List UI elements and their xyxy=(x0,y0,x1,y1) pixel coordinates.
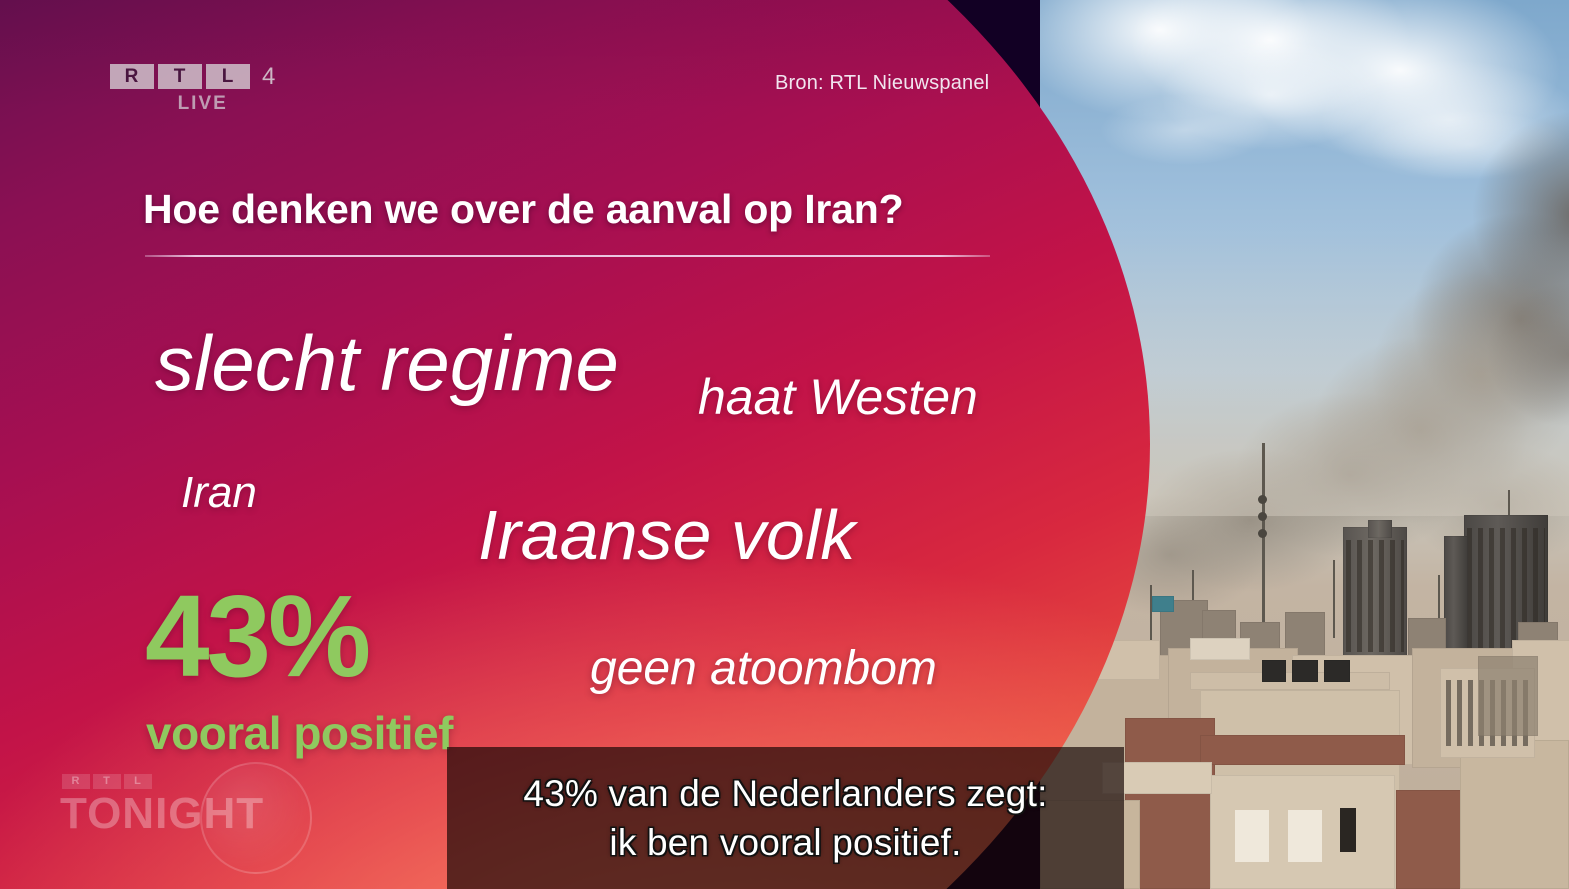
word-cloud-term-haat-westen: haat Westen xyxy=(698,368,978,426)
rtl-logo-letter-l: L xyxy=(206,64,250,89)
word-cloud-term-iran: Iran xyxy=(181,468,257,518)
source-credit: Bron: RTL Nieuwspanel xyxy=(775,72,989,95)
watermark-letter-l: L xyxy=(124,774,152,789)
rtl-logo-row: R T L 4 xyxy=(110,64,275,89)
watermark-letter-t: T xyxy=(93,774,121,789)
broadcast-screen: R T L 4 LIVE Bron: RTL Nieuwspanel Hoe d… xyxy=(0,0,1569,889)
caption-line-1: 43% van de Nederlanders zegt: xyxy=(523,770,1047,817)
caption-line-2: ik ben vooral positief. xyxy=(609,819,961,866)
rtl4-live-logo: R T L 4 LIVE xyxy=(110,64,275,115)
watermark-rtl-logo: R T L xyxy=(62,774,152,789)
channel-number: 4 xyxy=(262,65,275,89)
title-divider xyxy=(145,255,990,257)
watermark-program-name: TONIGHT xyxy=(60,792,264,836)
word-cloud-term-slecht-regime: slecht regime xyxy=(155,318,619,409)
page-title: Hoe denken we over de aanval op Iran? xyxy=(143,186,903,233)
stat-label: vooral positief xyxy=(146,706,453,760)
word-cloud-term-iraanse-volk: Iraanse volk xyxy=(478,495,855,575)
rtl-logo-letter-t: T xyxy=(158,64,202,89)
subtitle-caption: 43% van de Nederlanders zegt: ik ben voo… xyxy=(447,747,1124,889)
rtl-tonight-watermark: R T L TONIGHT xyxy=(52,766,302,876)
word-cloud-term-geen-atoombom: geen atoombom xyxy=(590,641,937,696)
stat-percentage: 43% xyxy=(145,578,368,694)
rtl-logo-letter-r: R xyxy=(110,64,154,89)
watermark-letter-r: R xyxy=(62,774,90,789)
live-badge: LIVE xyxy=(178,93,228,115)
